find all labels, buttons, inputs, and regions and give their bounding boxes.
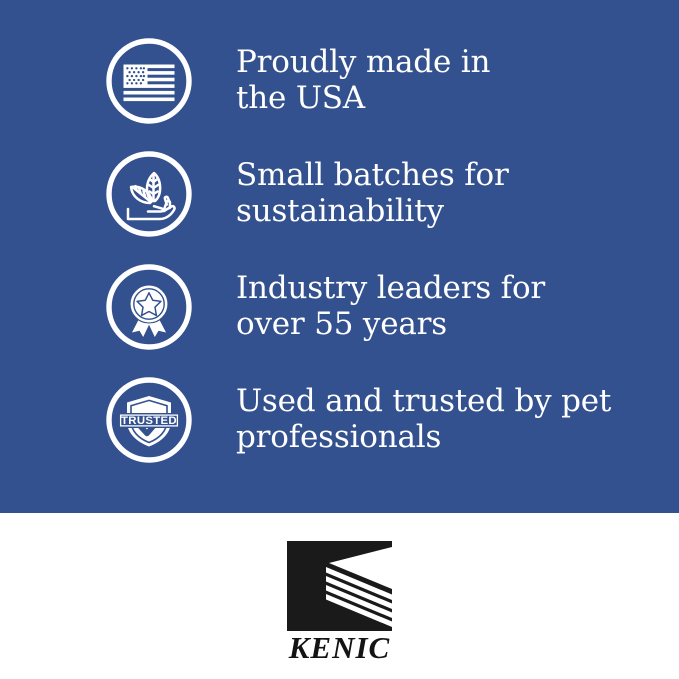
feature-row: Small batches for sustainability	[0, 137, 679, 250]
trusted-shield-icon: TRUSTED	[104, 375, 194, 465]
feature-label: Proudly made in the USA	[236, 45, 490, 117]
trusted-banner-label: TRUSTED	[121, 414, 177, 426]
feature-label: Used and trusted by pet professionals	[236, 384, 611, 456]
feature-row: Industry leaders for over 55 years	[0, 250, 679, 363]
hand-holding-leaves-icon	[104, 149, 194, 239]
feature-row: TRUSTED Used and trusted by pet professi…	[0, 363, 679, 476]
logo-area: KENIC	[0, 513, 679, 679]
brand-logo: KENIC	[287, 541, 392, 663]
feature-panel: Proudly made in the USA	[0, 0, 679, 513]
kenic-wordmark: KENIC	[289, 632, 390, 663]
feature-graphic: Proudly made in the USA	[0, 0, 679, 679]
feature-label: Industry leaders for over 55 years	[236, 271, 545, 343]
award-rosette-icon	[104, 262, 194, 352]
usa-flag-icon	[104, 36, 194, 126]
kenic-logo-mark	[287, 541, 392, 631]
feature-list: Proudly made in the USA	[0, 0, 679, 513]
feature-label: Small batches for sustainability	[236, 158, 509, 230]
feature-row: Proudly made in the USA	[0, 24, 679, 137]
